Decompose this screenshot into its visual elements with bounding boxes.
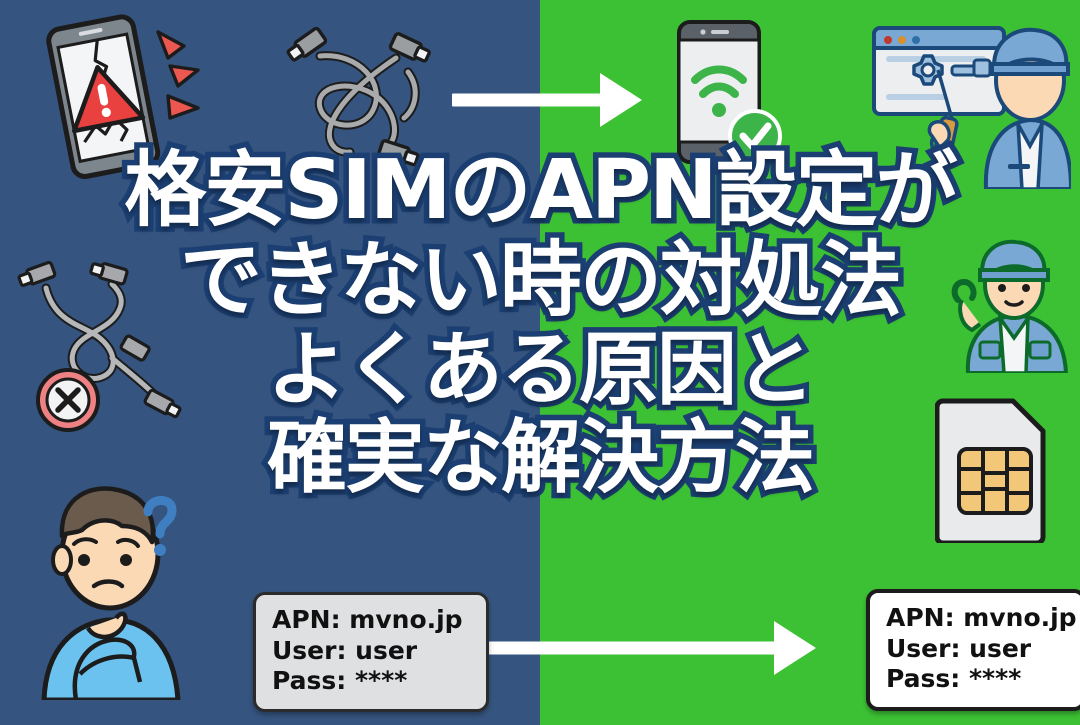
thumbnail-canvas: APN: mvno.jp User: user Pass: **** APN: …: [0, 0, 1080, 725]
apn-row-pass: Pass: ****: [886, 664, 1066, 695]
transition-arrow-top: [452, 72, 642, 128]
apn-settings-card-before: APN: mvno.jp User: user Pass: ****: [253, 592, 489, 712]
apn-row-pass: Pass: ****: [272, 666, 470, 697]
cable-error-icon: [8, 248, 193, 443]
arrow-head: [600, 73, 642, 127]
technician-icon: [950, 238, 1080, 373]
sim-card-icon: [935, 395, 1055, 543]
arrow-shaft: [478, 642, 778, 655]
broken-phone-warning-icon: [18, 10, 208, 195]
apn-row-apn: APN: mvno.jp: [272, 605, 470, 636]
transition-arrow-bottom: [478, 620, 818, 676]
arrow-shaft: [452, 94, 604, 107]
settings-technician-icon: [866, 14, 1071, 189]
apn-settings-card-after: APN: mvno.jp User: user Pass: ****: [866, 589, 1080, 711]
apn-row-user: User: user: [886, 634, 1066, 665]
tangled-cables-icon: [280, 12, 440, 177]
confused-person-icon: [22, 468, 207, 700]
phone-wifi-success-icon: [665, 18, 795, 168]
arrow-head: [774, 621, 816, 675]
apn-row-user: User: user: [272, 636, 470, 667]
apn-row-apn: APN: mvno.jp: [886, 603, 1066, 634]
